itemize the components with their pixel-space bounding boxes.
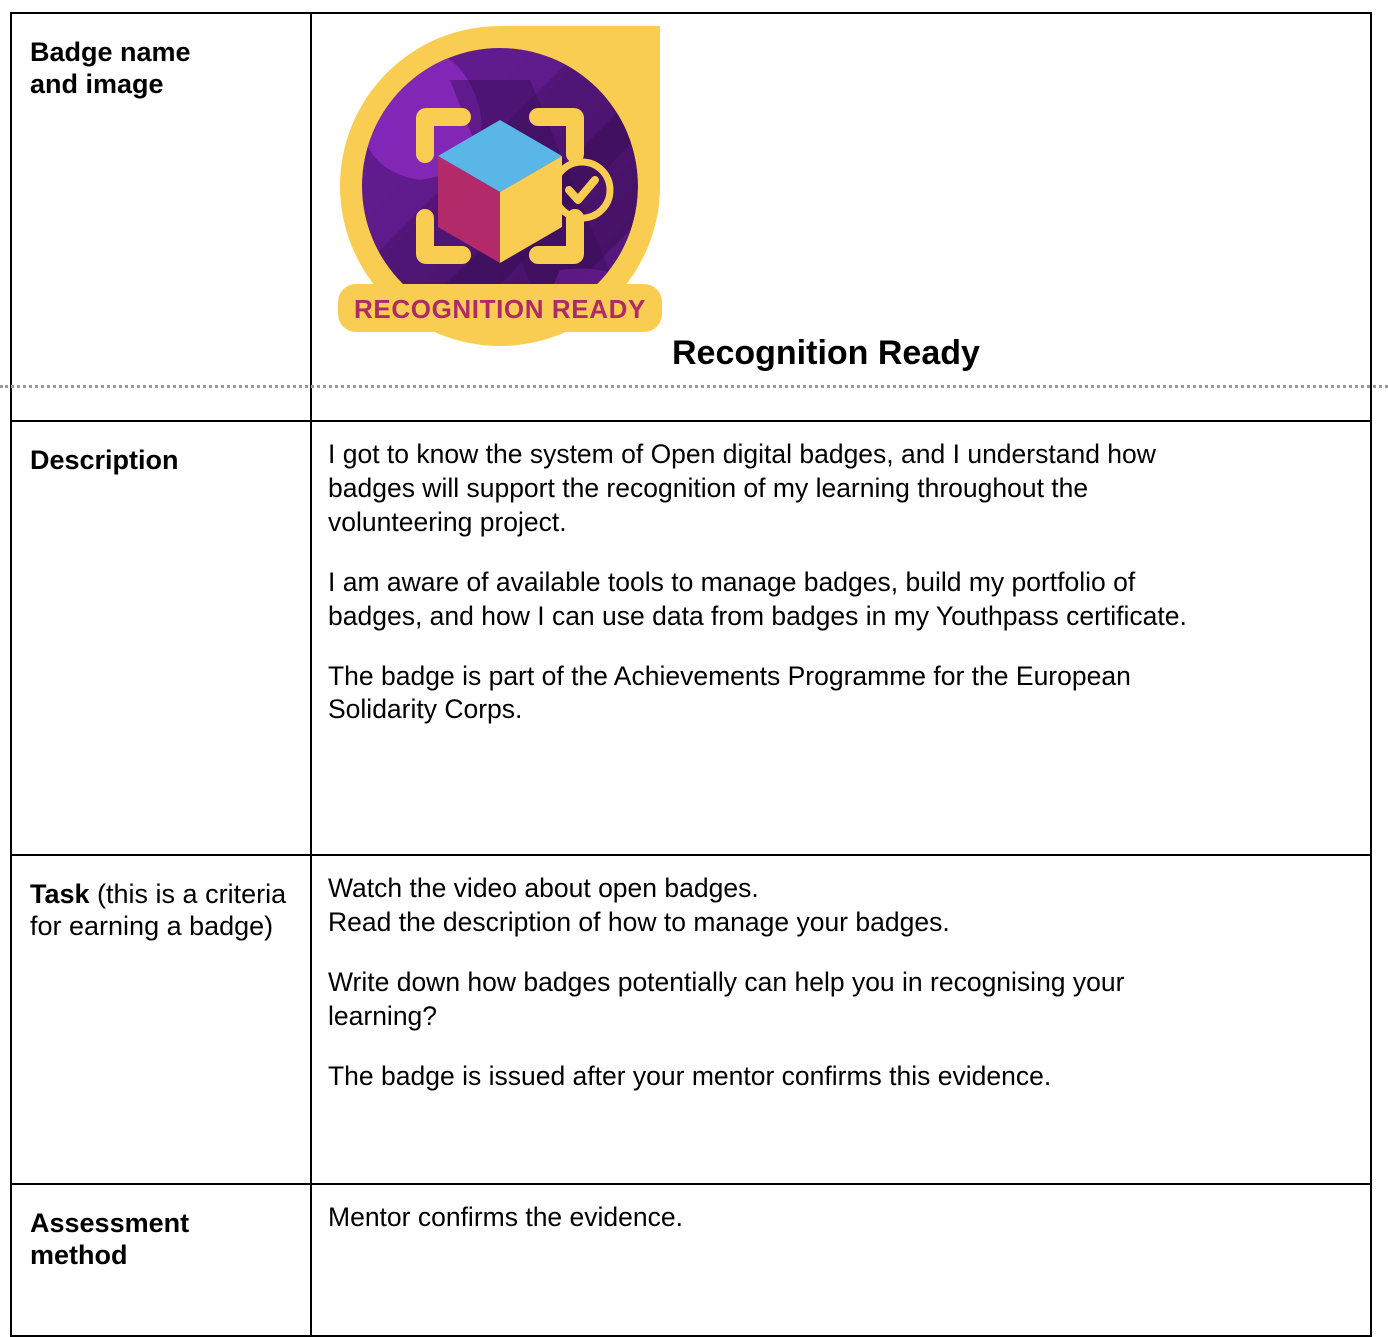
table-row-task: Task (this is a criteria for earning a b… (11, 855, 1371, 1184)
row-label-description: Description (11, 421, 311, 855)
text-line: Read the description of how to manage yo… (328, 906, 1352, 940)
text-line: learning? (328, 1000, 1352, 1034)
assessment-paragraph-1: Mentor confirms the evidence. (328, 1201, 1352, 1235)
text-line: Mentor confirms the evidence. (328, 1201, 1352, 1235)
description-paragraph-3: The badge is part of the Achievements Pr… (328, 660, 1352, 728)
description-content: I got to know the system of Open digital… (311, 421, 1371, 855)
description-paragraph-1: I got to know the system of Open digital… (328, 438, 1352, 540)
task-paragraph-3: The badge is issued after your mentor co… (328, 1060, 1352, 1094)
badge-title: Recognition Ready (672, 332, 980, 376)
table-row-badge-name-and-image: Badge name and image (11, 13, 1371, 421)
badge-label-line-1: Badge name (30, 37, 191, 67)
text-line: badges, and how I can use data from badg… (328, 600, 1352, 634)
text-line: The badge is part of the Achievements Pr… (328, 660, 1352, 694)
document-page: Badge name and image (0, 0, 1388, 1226)
assessment-label-line-1: Assessment (30, 1208, 189, 1238)
text-line: I am aware of available tools to manage … (328, 566, 1352, 600)
badge-ribbon-text: RECOGNITION READY (354, 294, 646, 324)
badge-media-cell: RECOGNITION READY Recognition Ready (311, 13, 1371, 421)
table-row-description: Description I got to know the system of … (11, 421, 1371, 855)
row-label-badge-name-and-image: Badge name and image (11, 13, 311, 421)
recognition-ready-badge-image: RECOGNITION READY (330, 20, 670, 378)
text-line: The badge is issued after your mentor co… (328, 1060, 1352, 1094)
badge-label-line-2: and image (30, 69, 164, 99)
text-line: Write down how badges potentially can he… (328, 966, 1352, 1000)
description-paragraph-2: I am aware of available tools to manage … (328, 566, 1352, 634)
assessment-label-line-2: method (30, 1240, 128, 1270)
row-label-assessment-method: Assessment method (11, 1184, 311, 1336)
assessment-content: Mentor confirms the evidence. (311, 1184, 1371, 1336)
task-content: Watch the video about open badges. Read … (311, 855, 1371, 1184)
task-label-bold: Task (30, 879, 90, 909)
text-line: I got to know the system of Open digital… (328, 438, 1352, 472)
table-row-assessment-method: Assessment method Mentor confirms the ev… (11, 1184, 1371, 1336)
badge-specification-table: Badge name and image (10, 12, 1372, 1337)
text-line: Solidarity Corps. (328, 693, 1352, 727)
text-line: Watch the video about open badges. (328, 872, 1352, 906)
text-line: volunteering project. (328, 506, 1352, 540)
row-label-task: Task (this is a criteria for earning a b… (11, 855, 311, 1184)
text-line: badges will support the recognition of m… (328, 472, 1352, 506)
task-paragraph-1: Watch the video about open badges. Read … (328, 872, 1352, 940)
task-paragraph-2: Write down how badges potentially can he… (328, 966, 1352, 1034)
